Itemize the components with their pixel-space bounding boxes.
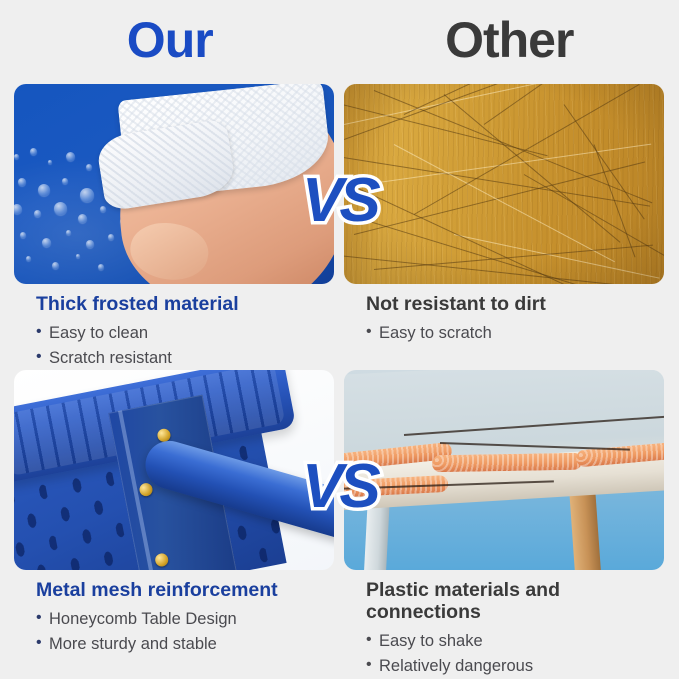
caption-ours-row2: Metal mesh reinforcement Honeycomb Table… <box>14 570 334 657</box>
bullet-item: More sturdy and stable <box>36 632 334 657</box>
photo-blue-honeycomb-table-metal-frame <box>14 370 334 570</box>
brass-screw <box>138 482 153 497</box>
caption-bullet-list: Easy to clean Scratch resistant <box>36 321 334 371</box>
caption-title: Metal mesh reinforcement <box>36 580 334 602</box>
caption-bullet-list: Honeycomb Table Design More sturdy and s… <box>36 607 334 657</box>
comparison-infographic: Our Other <box>0 0 679 679</box>
bullet-item: Scratch resistant <box>36 346 334 371</box>
caption-title: Plastic materials and connections <box>366 580 664 624</box>
wood-vignette <box>344 84 664 284</box>
photo-cracked-plastic-table-edge <box>344 370 664 570</box>
cell-ours-row1: Thick frosted material Easy to clean Scr… <box>14 84 334 370</box>
header-title-ours: Our <box>127 15 213 69</box>
photo-frosted-blue-surface-wiped-with-cloth <box>14 84 334 284</box>
caption-theirs-row1: Not resistant to dirt Easy to scratch <box>344 284 664 346</box>
caption-bullet-list: Easy to shake Relatively dangerous <box>366 629 664 679</box>
bullet-item: Honeycomb Table Design <box>36 607 334 632</box>
caption-theirs-row2: Plastic materials and connections Easy t… <box>344 570 664 679</box>
caption-ours-row1: Thick frosted material Easy to clean Scr… <box>14 284 334 371</box>
cell-theirs-row1: Not resistant to dirt Easy to scratch <box>344 84 664 370</box>
bullet-item: Easy to scratch <box>366 321 664 346</box>
exposed-foam-segment <box>432 453 582 473</box>
header-title-theirs: Other <box>445 15 573 69</box>
cell-ours-row2: Metal mesh reinforcement Honeycomb Table… <box>14 370 334 670</box>
caption-bullet-list: Easy to scratch <box>366 321 664 346</box>
header-col-ours: Our <box>0 0 340 84</box>
column-headers: Our Other <box>0 0 679 84</box>
bullet-item: Easy to clean <box>36 321 334 346</box>
photo-scratched-wooden-board <box>344 84 664 284</box>
cell-theirs-row2: Plastic materials and connections Easy t… <box>344 370 664 670</box>
caption-title: Thick frosted material <box>36 294 334 316</box>
bullet-item: Easy to shake <box>366 629 664 654</box>
header-col-theirs: Other <box>340 0 679 84</box>
bullet-item: Relatively dangerous <box>366 654 664 679</box>
vs-badge-row2: VS <box>302 456 377 518</box>
caption-title: Not resistant to dirt <box>366 294 664 316</box>
vs-badge-row1: VS <box>302 170 377 232</box>
brass-screw <box>154 552 169 567</box>
